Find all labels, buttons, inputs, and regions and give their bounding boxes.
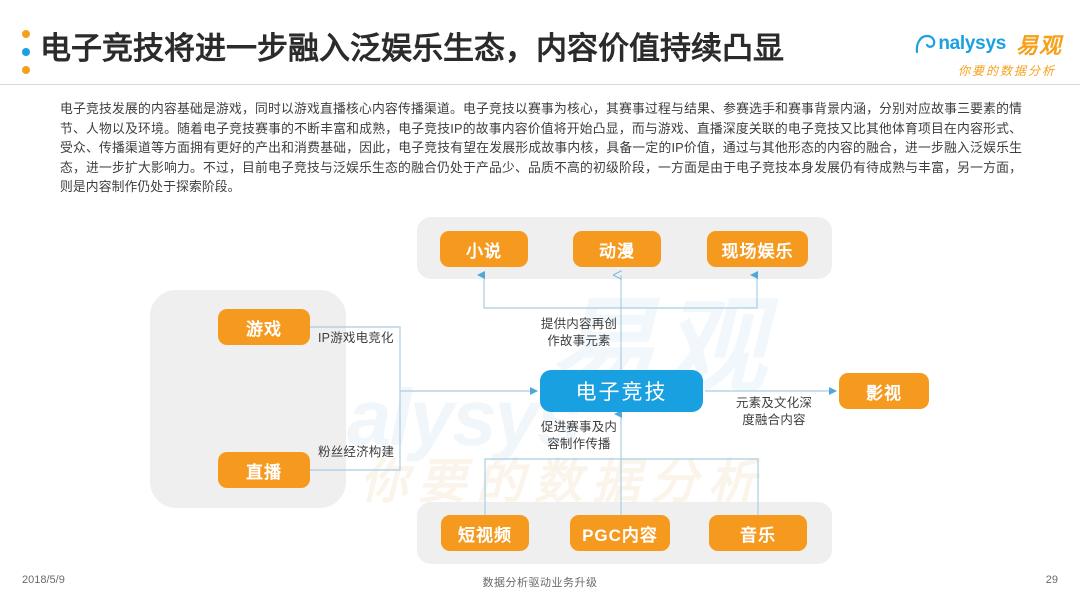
logo-en-text: nalysys bbox=[938, 33, 1006, 55]
edge-label-bottom-to-esports-line1: 促进赛事及内 bbox=[523, 419, 635, 436]
header-divider bbox=[0, 84, 1080, 85]
node-pgc-content[interactable]: PGC内容 bbox=[570, 515, 670, 551]
page-title: 电子竞技将进一步融入泛娱乐生态，内容价值持续凸显 bbox=[40, 26, 784, 72]
edge-label-stream-to-esports: 粉丝经济构建 bbox=[318, 444, 394, 461]
edge-label-game-to-esports: IP游戏电竞化 bbox=[318, 330, 394, 347]
footer-page-number: 29 bbox=[1046, 574, 1058, 586]
body-paragraph: 电子竞技发展的内容基础是游戏，同时以游戏直播核心内容传播渠道。电子竞技以赛事为核… bbox=[60, 99, 1022, 197]
bullet-dot-1 bbox=[22, 30, 30, 38]
analysys-swoosh-icon bbox=[914, 34, 936, 54]
edge-label-bottom-to-esports: 促进赛事及内 容制作传播 bbox=[523, 419, 635, 453]
edge-label-esports-to-film-line2: 度融合内容 bbox=[724, 412, 824, 429]
node-live-streaming[interactable]: 直播 bbox=[218, 452, 310, 488]
node-anime[interactable]: 动漫 bbox=[573, 231, 661, 267]
brand-logo: nalysys 易观 你要的数据分析 bbox=[892, 28, 1062, 79]
bullet-dot-2 bbox=[22, 48, 30, 56]
logo-tagline: 你要的数据分析 bbox=[892, 62, 1062, 79]
node-live-entertainment[interactable]: 现场娱乐 bbox=[707, 231, 808, 267]
title-bullet-group bbox=[20, 30, 32, 74]
node-film-tv[interactable]: 影视 bbox=[839, 373, 929, 409]
node-esports[interactable]: 电子竞技 bbox=[540, 370, 703, 412]
footer-slogan: 数据分析驱动业务升级 bbox=[0, 574, 1080, 590]
edge-label-esports-to-top: 提供内容再创 作故事元素 bbox=[523, 316, 635, 350]
node-music[interactable]: 音乐 bbox=[709, 515, 807, 551]
edge-label-esports-to-top-line2: 作故事元素 bbox=[523, 333, 635, 350]
node-novel[interactable]: 小说 bbox=[440, 231, 528, 267]
node-game[interactable]: 游戏 bbox=[218, 309, 310, 345]
edge-label-bottom-to-esports-line2: 容制作传播 bbox=[523, 436, 635, 453]
diagram-canvas: nalysys 易观 你要的数据分析 bbox=[0, 212, 1080, 562]
node-short-video[interactable]: 短视频 bbox=[441, 515, 529, 551]
edge-label-esports-to-top-line1: 提供内容再创 bbox=[523, 316, 635, 333]
edge-label-esports-to-film: 元素及文化深 度融合内容 bbox=[724, 395, 824, 429]
slide-root: 电子竞技将进一步融入泛娱乐生态，内容价值持续凸显 nalysys 易观 你要的数… bbox=[0, 0, 1080, 608]
bullet-dot-3 bbox=[22, 66, 30, 74]
edge-label-esports-to-film-line1: 元素及文化深 bbox=[724, 395, 824, 412]
logo-cn-text: 易观 bbox=[1016, 28, 1062, 60]
logo-main-row: nalysys 易观 bbox=[892, 28, 1062, 60]
